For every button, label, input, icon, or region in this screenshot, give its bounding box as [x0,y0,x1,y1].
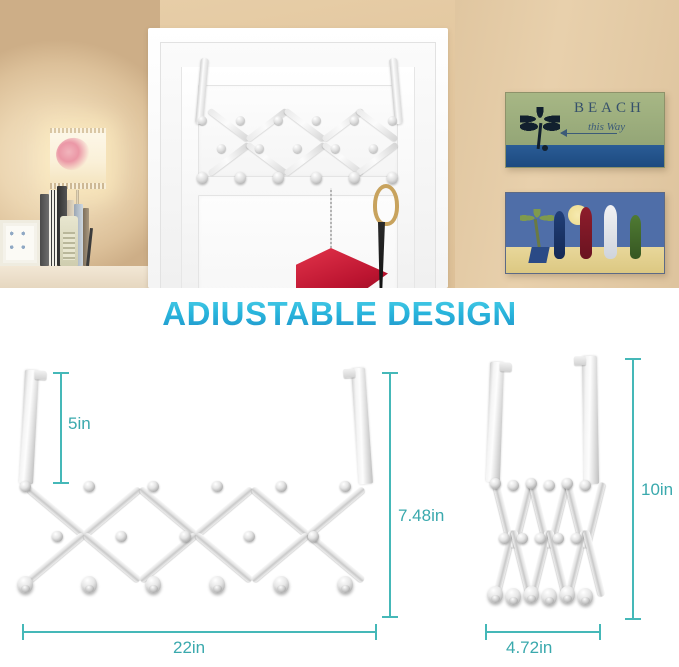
hook-peg [338,576,353,593]
lattice-arm [26,486,86,538]
rack-joint [544,480,555,491]
hook-peg [560,586,575,603]
dimension-line-rack-height [389,372,391,618]
desk-surface [0,266,152,288]
art-subtext: this Way [588,121,625,133]
dimension-line-total-height [632,358,634,620]
lattice-arm [250,486,310,538]
rack-cross-joint [517,533,528,544]
rack-hook-peg [349,172,360,184]
dimension-label-rack-height: 7.48in [398,506,444,526]
rack-joint [212,481,223,492]
lattice-arm [82,486,142,538]
wall-art-beach-sign: BEACH this Way [505,92,665,168]
product-infographic: BEACH this Way ADIUSTABLE DESIGN [0,0,679,667]
rack-joint [562,478,573,489]
rack-cross-joint [116,531,127,542]
rack-cross-joint [255,144,264,153]
surfboard-icon [580,207,592,259]
art-heading: BEACH [574,100,645,117]
rack-arm [207,108,251,143]
hook-peg [210,576,225,593]
over-door-hook-right [582,356,599,484]
over-door-hook-left [486,362,504,482]
rack-joint [148,481,159,492]
rack-joint [350,116,359,125]
rack-joint [276,481,287,492]
rack-cross-joint [180,531,191,542]
over-door-hook-left [19,370,39,485]
rack-joint [236,116,245,125]
rack-joint [312,116,321,125]
rack-arm [245,108,289,143]
art-sea [506,145,664,167]
surfboard-icon [630,215,641,259]
hook-lip [35,370,47,380]
hook-lip [343,368,356,378]
dimension-label-collapsed-width: 4.72in [506,638,552,658]
rack-cross-joint [369,144,378,153]
rack-cross-joint [244,531,255,542]
rack-joint [490,478,501,489]
over-door-hook-right [389,58,403,124]
rack-cross-joint [571,533,582,544]
dimension-line-total-width [22,631,377,633]
dimension-line-collapsed-width [485,631,601,633]
hook-peg [274,576,289,593]
bag-chain-strap [330,188,332,250]
book-item [40,194,49,266]
hook-lip [574,356,586,365]
beach-chair-icon [528,247,549,263]
hook-peg [488,586,503,603]
over-door-hook-right [351,368,373,485]
hook-peg [18,576,33,593]
lifestyle-photo: BEACH this Way [0,0,679,288]
rack-arm [245,142,289,177]
hook-peg [542,588,557,605]
handbag-gold-handle [373,184,399,226]
rack-joint [20,481,31,492]
rack-cross-joint [52,531,63,542]
rack-joint [526,478,537,489]
rack-arm [355,108,399,143]
rack-hook-peg [311,172,322,184]
rack-on-door [196,62,404,212]
lattice-arm [194,486,254,538]
dimension-line-hook-height [60,372,62,484]
rack-joint [580,480,591,491]
over-door-hook-left [195,58,209,124]
surfboard-icon [554,211,565,259]
rack-hook-peg [273,172,284,184]
rack-hook-peg [197,172,208,184]
rack-joint [198,116,207,125]
arrow-head-icon [560,129,567,137]
rack-cross-joint [217,144,226,153]
dimension-label-total-height: 10in [641,480,673,500]
rack-cross-joint [331,144,340,153]
rack-arm [283,108,327,143]
rack-cross-joint [499,533,510,544]
hook-peg [82,576,97,593]
rack-joint [84,481,95,492]
lattice-arm [138,486,198,538]
rack-joint [388,116,397,125]
hook-peg [506,588,521,605]
cordless-phone-icon [60,216,78,266]
rack-joint [508,480,519,491]
rack-hook-peg [235,172,246,184]
wall-art-surfboards [505,192,665,274]
coconut-icon [542,145,548,151]
hook-peg [524,586,539,603]
surfboard-icon [604,205,617,259]
rack-cross-joint [293,144,302,153]
book-item [49,190,57,266]
hook-lip [500,362,512,371]
rack-arm [207,142,251,177]
picture-frame [0,220,40,266]
lattice-arm [306,486,366,538]
dimension-diagrams: 5in 7.48in 22in [0,348,679,667]
hook-peg [146,576,161,593]
page-title: ADIUSTABLE DESIGN [0,295,679,333]
lamp-shade-icon [50,128,106,190]
dimension-label-hook-height: 5in [68,414,91,434]
rack-joint [274,116,283,125]
rack-cross-joint [308,531,319,542]
rack-arm [283,142,327,177]
arrow-left-icon [561,133,617,134]
hook-peg [578,588,593,605]
rack-joint [340,481,351,492]
dimension-label-total-width: 22in [173,638,205,658]
rack-cross-joint [535,533,546,544]
rack-hook-peg [387,172,398,184]
rack-cross-joint [553,533,564,544]
